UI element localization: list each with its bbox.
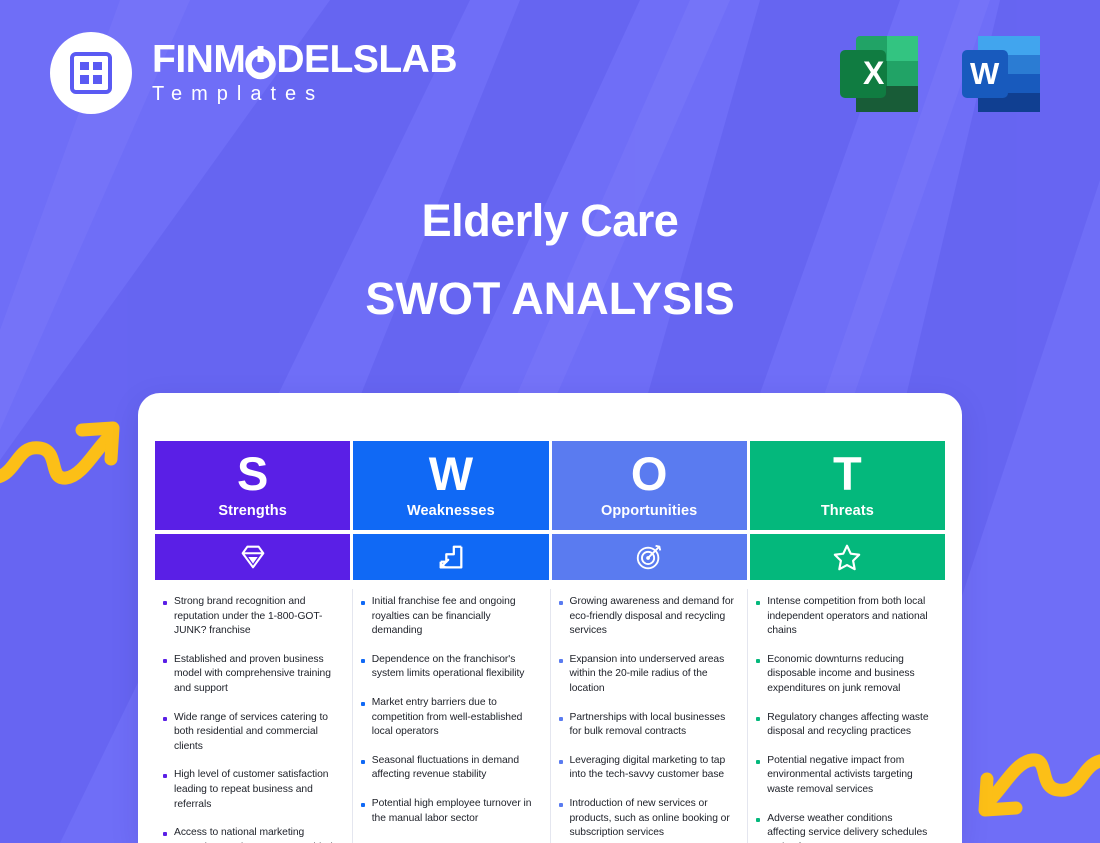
bullet-dot: [361, 659, 365, 663]
list-item: Leveraging digital marketing to tap into…: [559, 754, 735, 783]
bullet-text: Introduction of new services or products…: [570, 797, 735, 841]
page-subtitle: SWOT ANALYSIS: [0, 274, 1100, 324]
swot-header-weaknesses[interactable]: W Weaknesses: [353, 441, 548, 530]
swot-label: Threats: [821, 503, 874, 519]
bullet-text: Initial franchise fee and ongoing royalt…: [372, 595, 537, 639]
swot-icon-cell-strengths: [155, 534, 350, 580]
list-item: Partnerships with local businesses for b…: [559, 711, 735, 740]
bullet-dot: [756, 760, 760, 764]
bullet-text: Regulatory changes affecting waste dispo…: [767, 711, 932, 740]
bullet-text: Economic downturns reducing disposable i…: [767, 653, 932, 697]
list-item: Seasonal fluctuations in demand affectin…: [361, 754, 537, 783]
swot-letter: O: [631, 452, 668, 497]
bullet-dot: [559, 601, 563, 605]
bullet-dot: [756, 659, 760, 663]
bullet-text: Strong brand recognition and reputation …: [174, 595, 339, 639]
bullet-text: Intense competition from both local inde…: [767, 595, 932, 639]
list-item: Strong brand recognition and reputation …: [163, 595, 339, 639]
bullet-dot: [756, 601, 760, 605]
list-item: Economic downturns reducing disposable i…: [756, 653, 932, 697]
swot-label: Strengths: [218, 503, 287, 519]
list-item: Potential negative impact from environme…: [756, 754, 932, 798]
swot-body-threats: Intense competition from both local inde…: [747, 589, 945, 843]
bullet-text: Growing awareness and demand for eco-fri…: [570, 595, 735, 639]
grid-squares-icon: [70, 52, 112, 94]
swot-header-opportunities[interactable]: O Opportunities: [552, 441, 747, 530]
swot-label: Weaknesses: [407, 503, 495, 519]
bullet-dot: [559, 659, 563, 663]
bullet-dot: [361, 760, 365, 764]
swot-body-row: Strong brand recognition and reputation …: [155, 589, 945, 843]
bullet-text: Partnerships with local businesses for b…: [570, 711, 735, 740]
bullet-text: Established and proven business model wi…: [174, 653, 339, 697]
swot-body-strengths: Strong brand recognition and reputation …: [155, 589, 352, 843]
brand-name-part2: DELSLAB: [276, 38, 457, 81]
bullet-dot: [163, 774, 167, 778]
bullet-text: Seasonal fluctuations in demand affectin…: [372, 754, 537, 783]
list-item: Established and proven business model wi…: [163, 653, 339, 697]
bullet-dot: [361, 803, 365, 807]
swot-grid: S Strengths W Weaknesses O Opportunities…: [155, 441, 945, 843]
list-item: High level of customer satisfaction lead…: [163, 768, 339, 812]
bullet-dot: [163, 832, 167, 836]
bullet-text: Adverse weather conditions affecting ser…: [767, 812, 932, 843]
swot-body-opportunities: Growing awareness and demand for eco-fri…: [550, 589, 748, 843]
svg-text:X: X: [863, 55, 885, 91]
brand-tagline: Templates: [152, 83, 457, 106]
bullet-text: Potential negative impact from environme…: [767, 754, 932, 798]
bullet-dot: [163, 601, 167, 605]
list-item: Initial franchise fee and ongoing royalt…: [361, 595, 537, 639]
swot-icon-row: [155, 534, 945, 580]
swot-letter: W: [429, 452, 473, 497]
swot-letter: T: [833, 452, 862, 497]
bullet-dot: [756, 717, 760, 721]
list-item: Wide range of services catering to both …: [163, 711, 339, 755]
bullet-text: Leveraging digital marketing to tap into…: [570, 754, 735, 783]
brand-name-part1: FINM: [152, 38, 245, 81]
list-item: Market entry barriers due to competition…: [361, 696, 537, 740]
bullet-text: Expansion into underserved areas within …: [570, 653, 735, 697]
logo-badge: [50, 32, 132, 114]
bullet-dot: [163, 717, 167, 721]
swot-header-row: S Strengths W Weaknesses O Opportunities…: [155, 441, 945, 530]
brand-logo[interactable]: FINMDELSLAB Templates: [50, 32, 457, 114]
list-item: Dependence on the franchisor's system li…: [361, 653, 537, 682]
bullet-text: Potential high employee turnover in the …: [372, 797, 537, 826]
squiggle-arrow-up-right-icon: [0, 408, 126, 496]
list-item: Regulatory changes affecting waste dispo…: [756, 711, 932, 740]
word-icon[interactable]: W: [956, 28, 1048, 120]
excel-icon[interactable]: X: [834, 28, 926, 120]
page-title-block: Elderly Care SWOT ANALYSIS: [0, 196, 1100, 323]
list-item: Adverse weather conditions affecting ser…: [756, 812, 932, 843]
swot-header-threats[interactable]: T Threats: [750, 441, 945, 530]
swot-label: Opportunities: [601, 503, 697, 519]
page-header: FINMDELSLAB Templates X W: [0, 0, 1100, 150]
swot-card: S Strengths W Weaknesses O Opportunities…: [138, 393, 962, 843]
bullet-dot: [361, 702, 365, 706]
swot-body-weaknesses: Initial franchise fee and ongoing royalt…: [352, 589, 550, 843]
list-item: Potential high employee turnover in the …: [361, 797, 537, 826]
swot-icon-cell-weaknesses: [353, 534, 548, 580]
bullet-dot: [361, 601, 365, 605]
swot-letter: S: [237, 452, 268, 497]
list-item: Access to national marketing campaigns a…: [163, 826, 339, 843]
bullet-dot: [559, 717, 563, 721]
bullet-dot: [559, 760, 563, 764]
descending-stairs-arrow-icon: [436, 542, 466, 572]
squiggle-arrow-down-left-icon: [972, 748, 1100, 828]
star-outline-icon: [832, 542, 862, 572]
bullet-dot: [559, 803, 563, 807]
bullet-dot: [756, 818, 760, 822]
list-item: Growing awareness and demand for eco-fri…: [559, 595, 735, 639]
file-format-icons: X W: [834, 28, 1048, 120]
page-title: Elderly Care: [0, 196, 1100, 246]
list-item: Introduction of new services or products…: [559, 797, 735, 841]
list-item: Intense competition from both local inde…: [756, 595, 932, 639]
swot-header-strengths[interactable]: S Strengths: [155, 441, 350, 530]
bullet-text: Market entry barriers due to competition…: [372, 696, 537, 740]
bullet-text: Wide range of services catering to both …: [174, 711, 339, 755]
bullet-text: High level of customer satisfaction lead…: [174, 768, 339, 812]
target-dartboard-icon: [634, 542, 664, 572]
swot-icon-cell-threats: [750, 534, 945, 580]
bullet-text: Dependence on the franchisor's system li…: [372, 653, 537, 682]
swot-icon-cell-opportunities: [552, 534, 747, 580]
svg-text:W: W: [970, 56, 1000, 91]
bullet-dot: [163, 659, 167, 663]
brand-name: FINMDELSLAB: [152, 40, 457, 80]
list-item: Expansion into underserved areas within …: [559, 653, 735, 697]
bullet-text: Access to national marketing campaigns a…: [174, 826, 339, 843]
diamond-gem-icon: [238, 542, 268, 572]
